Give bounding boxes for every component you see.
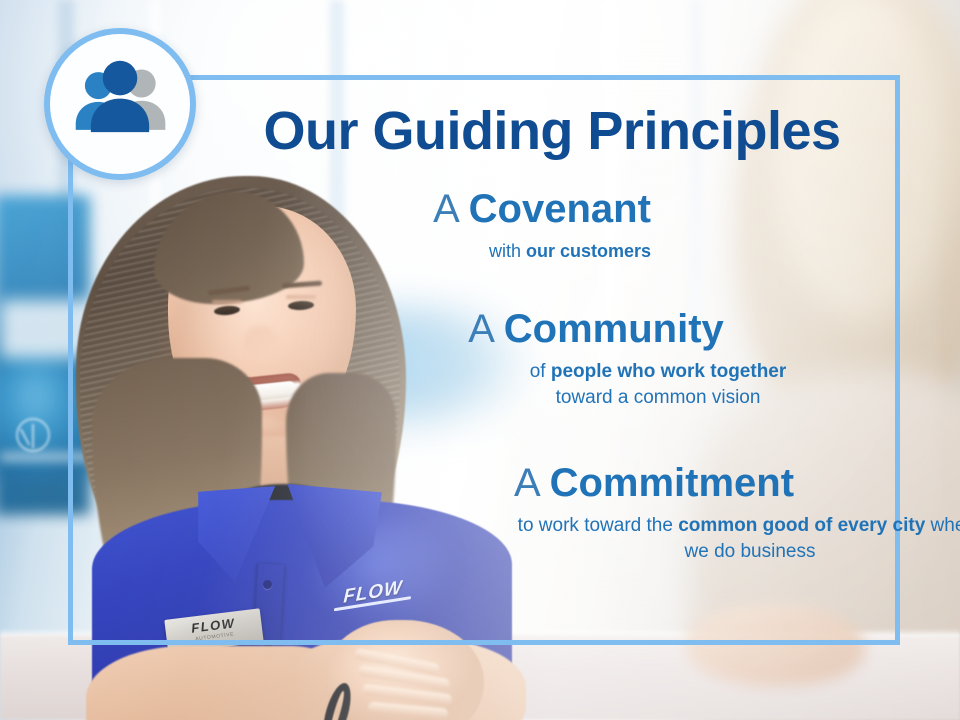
principle-subtext: with our customers bbox=[290, 239, 850, 264]
principle-keyword: Covenant bbox=[469, 187, 651, 231]
text-content: Our Guiding Principles A Covenant with o… bbox=[200, 78, 900, 638]
principle-article: A bbox=[433, 187, 457, 231]
subtext-bold: people who work together bbox=[551, 361, 786, 382]
principle-article: A bbox=[468, 307, 492, 351]
principle-subtext: of people who work together toward a com… bbox=[378, 359, 938, 411]
subtext-plain: to work toward the bbox=[518, 515, 679, 536]
principle-heading: A Commitment bbox=[304, 462, 960, 504]
subtext-plain: with bbox=[489, 241, 526, 261]
principle-heading: A Covenant bbox=[192, 188, 892, 230]
principle-community: A Community of people who work together … bbox=[246, 308, 946, 411]
principle-subtext: to work toward the common good of every … bbox=[510, 513, 960, 565]
principle-keyword: Commitment bbox=[550, 461, 794, 505]
principle-keyword: Community bbox=[504, 307, 724, 351]
subtext-plain-line2: toward a common vision bbox=[556, 387, 761, 408]
subtext-bold: our customers bbox=[526, 241, 651, 261]
subtext-bold: common bbox=[678, 515, 757, 536]
guiding-principles-graphic: FLOW FLOW AUTOMOTIVE bbox=[0, 0, 960, 720]
subtext-plain: of bbox=[530, 361, 551, 382]
page-title: Our Guiding Principles bbox=[222, 100, 882, 162]
principle-heading: A Community bbox=[246, 308, 946, 350]
subtext-bold-2: good of every city bbox=[763, 515, 926, 536]
principle-commitment: A Commitment to work toward the common g… bbox=[304, 462, 960, 565]
people-group-icon bbox=[66, 50, 174, 158]
people-badge bbox=[44, 28, 196, 180]
principle-covenant: A Covenant with our customers bbox=[192, 188, 892, 264]
principle-article: A bbox=[514, 461, 538, 505]
